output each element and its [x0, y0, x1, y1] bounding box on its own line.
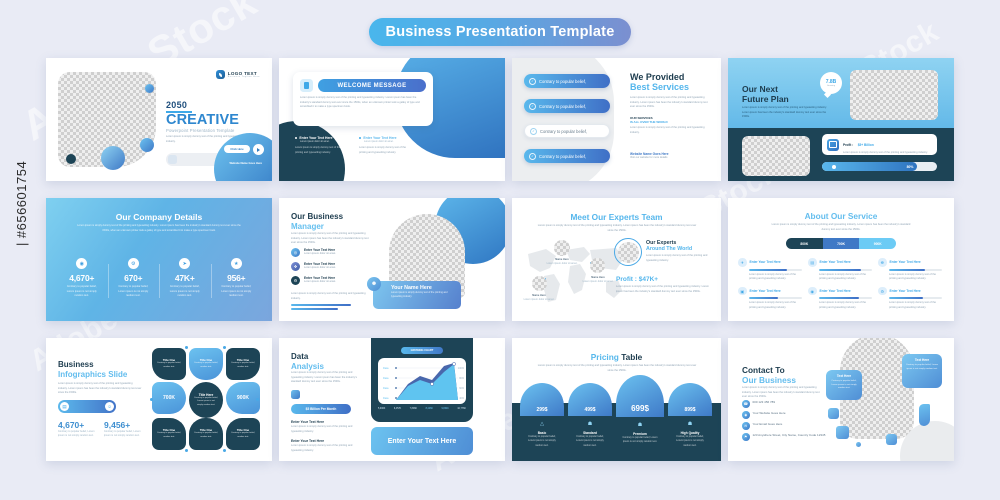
- service-cell[interactable]: ▣Enter Your Text Here Lorem ipsum is sim…: [738, 287, 802, 311]
- decor-square: [291, 390, 300, 399]
- pricing-body: Lorem ipsum is simply dummy text of the …: [536, 364, 698, 373]
- map-caption: Name HereLorem ipsum dolor sit amet.: [544, 258, 580, 267]
- doc-icon: [168, 155, 177, 164]
- item-sub: Lorem ipsum dolor sit amet.: [304, 266, 336, 271]
- map-caption: Name HereLorem ipsum dolor sit amet.: [580, 276, 616, 285]
- contact-text: 123 Anywhere Street, City Name, Country …: [753, 433, 826, 438]
- decor-square: [828, 408, 839, 419]
- data-analysis-body: Lorem ipsum is simply dummy text of the …: [291, 371, 357, 385]
- chart-icon[interactable]: ▤: [60, 402, 69, 411]
- cell-desc: Contrary to popular belief, random text.: [152, 362, 186, 369]
- about-service-heading: About Our Service: [728, 211, 954, 221]
- svg-text:Data: Data: [383, 396, 389, 400]
- progress-knob[interactable]: [832, 165, 836, 169]
- cell-desc: Lorem ipsum is simply dummy text of the …: [889, 273, 942, 282]
- experts-profit-body: Lorem ipsum is simply dummy text of the …: [616, 285, 712, 294]
- segment-3[interactable]: 900K: [859, 238, 896, 249]
- decor-dot: [223, 449, 226, 452]
- cell-title: Enter Your Text Here: [820, 289, 851, 293]
- manager-heading: Our BusinessManager: [291, 212, 343, 231]
- cart-icon: ☗: [586, 420, 594, 428]
- segment-2[interactable]: 700K: [823, 238, 860, 249]
- chart-tag: GROWING CHART: [401, 347, 443, 354]
- list-item[interactable]: ◎ Enter Your Text Here Lorem ipsum dolor…: [291, 248, 373, 257]
- stats-row: ◉ 4,670+ Contrary to popular belief, Lor…: [56, 258, 262, 299]
- future-plan-heading: Our NextFuture Plan: [742, 84, 789, 104]
- contact-card-1[interactable]: Text Here Contrary to popular belief, Lo…: [826, 370, 862, 400]
- welcome-card: WELCOME MESSAGE Lorem ipsum is simply du…: [293, 72, 433, 126]
- bubble-label: Growing: [827, 85, 835, 87]
- services-heading: We ProvidedBest Services: [630, 72, 689, 93]
- number-desc: Contrary to popular belief, Lorem ipsum …: [58, 430, 98, 439]
- column-sub: Lorem ipsum dolor sit amet.: [300, 140, 347, 143]
- area-chart: DataData DataData 100%80% 60%40%: [378, 358, 466, 404]
- services-sub-2: IS ALL OVER THE WORLD: [630, 120, 710, 124]
- service-cell[interactable]: ⚙Enter Your Text Here Lorem ipsum is sim…: [878, 287, 942, 311]
- image-placeholder-2: [742, 136, 810, 176]
- logo: LOGO TEXT Business Tagline Here: [216, 70, 260, 79]
- cell-desc: Lorem ipsum is simply dummy text of the …: [889, 301, 942, 310]
- decor-dot: [185, 346, 188, 349]
- decor-square: [836, 426, 849, 439]
- text-title: Enter Your Text Here: [291, 439, 361, 443]
- slide-services[interactable]: ✓Contrary to popular belief, ✓Contrary t…: [512, 58, 721, 181]
- card-title: Text Here: [906, 358, 938, 362]
- profit-value: $5+ Billion: [858, 143, 874, 147]
- user-icon[interactable]: ☺: [105, 402, 114, 411]
- cover-subtitle: Powerpoint Presentation Template: [166, 128, 235, 133]
- globe-icon: ◉: [76, 258, 87, 269]
- company-details-title: Our Company Details: [46, 212, 272, 222]
- stat-item: ◉ 4,670+ Contrary to popular belief, Lor…: [56, 258, 108, 299]
- progress-fill: 80%: [822, 162, 917, 171]
- document-icon: [300, 79, 313, 92]
- plan-price: 699$: [616, 375, 664, 417]
- plan-desc: Contrary to popular belief, Lorem ipsum …: [616, 436, 664, 445]
- check-icon: ✓: [530, 128, 537, 135]
- manager-list: ◎ Enter Your Text Here Lorem ipsum dolor…: [291, 248, 373, 290]
- cart-icon: ☗: [686, 420, 694, 428]
- center-desc: Contrary to popular belief, Lorem ipsum …: [189, 397, 223, 408]
- profit-label: Profit :: [843, 143, 853, 147]
- stat-item: ➤ 47K+ Contrary to popular belief, Lorem…: [159, 258, 211, 299]
- profit-card: Profit : $5+ Billion Lorem ipsum is simp…: [822, 134, 937, 155]
- contact-list: ☎ 000 123 456 789 ◉ Your Website Goes He…: [742, 400, 828, 444]
- phone-icon: ☎: [742, 400, 750, 408]
- slide-business-manager[interactable]: Our BusinessManager Lorem ipsum is simpl…: [279, 198, 505, 321]
- pricing-plan[interactable]: 899$ ☗ High Quality Contrary to popular …: [668, 383, 712, 461]
- service-pill-1[interactable]: ✓Contrary to popular belief,: [524, 74, 610, 88]
- svg-text:Data: Data: [383, 366, 389, 370]
- x-tick: 5,000K: [378, 408, 385, 410]
- grid-cell[interactable]: 900K: [226, 382, 260, 414]
- data-analysis-cta[interactable]: Enter Your Text Here: [371, 427, 473, 455]
- decor-dot-blue: [145, 84, 154, 93]
- x-tick: 9,864K: [442, 408, 449, 410]
- cell-title: Enter Your Text Here: [820, 260, 851, 264]
- number-item: 9,456+ Contrary to popular belief, Lorem…: [104, 420, 150, 439]
- cover-website: Website Name Goes Here: [229, 162, 262, 165]
- contact-body: Lorem ipsum is simply dummy text of the …: [742, 386, 824, 400]
- services-sub-body: Lorem ipsum is simply dummy text of the …: [630, 126, 710, 135]
- slide-experts-team[interactable]: Meet Our Experts Team Lorem ipsum is sim…: [512, 198, 721, 321]
- data-analysis-heading: DataAnalysis: [291, 352, 324, 371]
- service-cell[interactable]: ☸Enter Your Text Here Lorem ipsum is sim…: [878, 258, 942, 282]
- text-title: Enter Your Text Here: [291, 420, 361, 424]
- slide-company-details[interactable]: Our Company Details Lorem ipsum is simpl…: [46, 198, 272, 321]
- globe-icon: ◉: [742, 411, 750, 419]
- cell-progress: [889, 297, 942, 299]
- stat-value: 4,670+: [56, 273, 108, 283]
- member-photo-placeholder: [590, 258, 605, 273]
- service-pill-2[interactable]: ✓Contrary to popular belief,: [524, 99, 610, 113]
- experts-side-body: Lorem ipsum is simply dummy text of the …: [646, 254, 712, 263]
- target-icon: ◎: [291, 248, 300, 257]
- slide-pricing-table[interactable]: Pricing Table Lorem ipsum is simply dumm…: [512, 338, 721, 461]
- company-details-body: Lorem ipsum is simply dummy text of the …: [76, 224, 242, 234]
- expert-avatar-ring: [614, 238, 642, 266]
- profit-body: Lorem ipsum is simply dummy text of the …: [843, 151, 928, 156]
- rocket-icon: ✈: [738, 258, 747, 267]
- item-sub: Lorem ipsum dolor sit amet.: [304, 280, 336, 285]
- pricing-plan-featured[interactable]: 699$ ☗ Premium Contrary to popular belie…: [616, 375, 664, 461]
- grid-cell[interactable]: Title One Contrary to popular belief, ra…: [189, 348, 223, 380]
- stat-value: 956+: [211, 273, 263, 283]
- contact-text: Your Email Goes Here: [753, 422, 783, 427]
- service-cell[interactable]: ▤Enter Your Text Here Lorem ipsum is sim…: [808, 258, 872, 282]
- future-plan-body: Lorem ipsum is simply dummy text of the …: [742, 106, 832, 120]
- map-caption: Name HereLorem ipsum dolor sit amet.: [521, 294, 557, 303]
- list-item[interactable]: ⚙ Enter Your Text Here Lorem ipsum dolor…: [291, 276, 373, 285]
- plan-desc: Contrary to popular belief, Lorem ipsum …: [520, 435, 564, 448]
- service-pill-4[interactable]: ✓Contrary to popular belief,: [524, 149, 610, 163]
- x-tick: 10,776K: [457, 408, 466, 410]
- growth-bubble: 7.8B Growing: [820, 72, 842, 94]
- grid-cell[interactable]: Title One Contrary to popular belief, ra…: [152, 348, 186, 380]
- list-item[interactable]: ❖ Enter Your Text Here Lorem ipsum dolor…: [291, 262, 373, 271]
- avatar: ☻: [367, 277, 381, 291]
- contact-item[interactable]: ✉ Your Email Goes Here: [742, 422, 828, 430]
- cell-title: Enter Your Text Here: [750, 260, 781, 264]
- cell-desc: Lorem ipsum is simply dummy text of the …: [819, 301, 872, 310]
- chart-icon: ▤: [808, 258, 817, 267]
- contact-item[interactable]: ◉ Your Website Goes Here: [742, 411, 828, 419]
- x-tick: 8,446K: [426, 408, 433, 410]
- infographics-heading: BusinessInfographics Slide: [58, 360, 127, 379]
- service-cell[interactable]: ✈Enter Your Text Here Lorem ipsum is sim…: [738, 258, 802, 282]
- briefcase-icon: [827, 139, 839, 151]
- cell-progress: [819, 297, 872, 299]
- item-sub: Lorem ipsum dolor sit amet.: [304, 252, 336, 257]
- gear-icon: ⚙: [878, 287, 887, 296]
- slide-welcome[interactable]: WELCOME MESSAGE Lorem ipsum is simply du…: [279, 58, 505, 181]
- number-value: 9,456+: [104, 420, 150, 430]
- slide-about-service[interactable]: About Our Service Lorem ipsum is simply …: [728, 198, 954, 321]
- experts-side-title-2: Around The World: [646, 246, 712, 252]
- svg-text:40%: 40%: [459, 397, 465, 400]
- experts-profit: Profit : $47K+: [616, 276, 712, 283]
- user-icon: ★: [231, 258, 242, 269]
- cover-cta-button[interactable]: Click Here: [224, 145, 250, 153]
- text-body: Lorem ipsum is simply dummy text of the …: [291, 444, 361, 453]
- contact-card-2[interactable]: Text Here Contrary to popular belief, Lo…: [902, 354, 942, 388]
- cell-desc: Lorem ipsum is simply dummy text of the …: [749, 273, 802, 282]
- stat-desc: Contrary to popular belief, Lorem ipsum …: [108, 285, 160, 299]
- data-analysis-button[interactable]: $5 Billion Per Month: [291, 404, 351, 414]
- cover-year: 2050: [166, 100, 192, 113]
- stat-value: 47K+: [159, 273, 211, 283]
- slide-future-plan[interactable]: Our NextFuture Plan Lorem ipsum is simpl…: [728, 58, 954, 181]
- contact-text: 000 123 456 789: [753, 400, 776, 405]
- stat-value: 670+: [108, 273, 160, 283]
- plan-price: 899$: [668, 383, 712, 416]
- cell-progress: [889, 269, 942, 271]
- stat-item: ★ 956+ Contrary to popular belief, Lorem…: [211, 258, 263, 299]
- cart-icon: ▣: [738, 287, 747, 296]
- cell-desc: Contrary to popular belief, random text.: [226, 432, 260, 439]
- image-placeholder-1: [850, 70, 938, 120]
- data-analysis-texts: Enter Your Text Here Lorem ipsum is simp…: [291, 420, 361, 453]
- card-desc: Contrary to popular belief, Lorem ipsum …: [906, 364, 938, 371]
- card-title: Text Here: [830, 374, 858, 378]
- member-photo-placeholder: [532, 276, 547, 291]
- logo-tagline: Business Tagline Here: [228, 76, 260, 78]
- segment-1[interactable]: 800K: [786, 238, 823, 249]
- cover-title: CREATIVE: [166, 112, 239, 128]
- manager-footer: Lorem ipsum is simply dummy text of the …: [291, 292, 369, 301]
- welcome-badge: WELCOME MESSAGE: [318, 79, 426, 92]
- contact-heading: Contact ToOur Business: [742, 366, 796, 386]
- logo-mark-icon: [216, 70, 225, 79]
- slide-infographics[interactable]: BusinessInfographics Slide Lorem ipsum i…: [46, 338, 272, 461]
- column-body: Lorem ipsum is simply dummy text of the …: [359, 146, 411, 155]
- cart-icon: ☗: [636, 421, 644, 429]
- column-sub: Lorem ipsum dolor sit amet.: [364, 140, 411, 143]
- decor-blob: [919, 404, 930, 426]
- experts-body: Lorem ipsum is simply dummy text of the …: [536, 224, 698, 233]
- stock-id-label: |#656601754: [14, 161, 29, 250]
- welcome-column-1: Enter Your Text Here Lorem ipsum dolor s…: [295, 136, 347, 155]
- segmented-stat-bar[interactable]: 800K 700K 900K: [786, 238, 896, 249]
- cell-desc: Lorem ipsum is simply dummy text of the …: [819, 273, 872, 282]
- service-pill-3[interactable]: ✓Contrary to popular belief,: [524, 124, 610, 138]
- check-icon: ✓: [529, 153, 536, 160]
- svg-text:60%: 60%: [459, 387, 465, 390]
- stat-desc: Contrary to popular belief, Lorem ipsum …: [211, 285, 263, 299]
- decor-bars: [291, 304, 351, 312]
- decor-dot-blue-2: [140, 138, 154, 152]
- pricing-plan[interactable]: 499$ ☗ Standard Contrary to popular beli…: [568, 383, 612, 461]
- text-body: Lorem ipsum is simply dummy text of the …: [291, 425, 361, 434]
- services-website-sub: Visit our website for more details: [630, 156, 710, 161]
- cell-title: Enter Your Text Here: [890, 289, 921, 293]
- x-tick: 7,896K: [410, 408, 417, 410]
- grid-cell[interactable]: Title One Contrary to popular belief, ra…: [226, 418, 260, 450]
- check-icon: ✓: [529, 103, 536, 110]
- plan-desc: Contrary to popular belief, Lorem ipsum …: [568, 435, 612, 448]
- pin-icon: ⚑: [742, 433, 750, 441]
- globe-icon: ◉: [808, 287, 817, 296]
- cell-title: 900K: [237, 395, 249, 401]
- svg-text:Data: Data: [383, 376, 389, 380]
- pricing-plan[interactable]: 299$ △ Basic Contrary to popular belief,…: [520, 383, 564, 461]
- decor-square: [886, 434, 897, 445]
- svg-text:100%: 100%: [458, 367, 465, 370]
- infographics-body: Lorem ipsum is simply dummy text of the …: [58, 382, 142, 396]
- cell-desc: Lorem ipsum is simply dummy text of the …: [749, 301, 802, 310]
- slide-cover[interactable]: LOGO TEXT Business Tagline Here 2050 CRE…: [46, 58, 272, 181]
- manager-body: Lorem ipsum is simply dummy text of the …: [291, 232, 373, 246]
- contact-item[interactable]: ⚑ 123 Anywhere Street, City Name, Countr…: [742, 433, 828, 441]
- plan-desc: Contrary to popular belief, Lorem ipsum …: [668, 435, 712, 448]
- stat-desc: Contrary to popular belief, Lorem ipsum …: [56, 285, 108, 299]
- infographics-numbers: 4,670+ Contrary to popular belief, Lorem…: [58, 420, 150, 439]
- cell-desc: Contrary to popular belief, random text.: [189, 362, 223, 369]
- cell-progress: [819, 269, 872, 271]
- share-icon: ☸: [878, 258, 887, 267]
- rocket-icon: ➤: [179, 258, 190, 269]
- number-desc: Contrary to popular belief, Lorem ipsum …: [104, 430, 144, 439]
- service-cell[interactable]: ◉Enter Your Text Here Lorem ipsum is sim…: [808, 287, 872, 311]
- grid-center-cell[interactable]: Title Here Contrary to popular belief, L…: [189, 382, 223, 418]
- plan-price: 299$: [520, 383, 564, 416]
- cell-desc: Contrary to popular belief, random text.: [152, 432, 186, 439]
- grid-cell[interactable]: Title One Contrary to popular belief, ra…: [152, 418, 186, 450]
- service-grid: ✈Enter Your Text Here Lorem ipsum is sim…: [738, 258, 944, 311]
- contact-item[interactable]: ☎ 000 123 456 789: [742, 400, 828, 408]
- grid-cell[interactable]: Title One Contrary to popular belief, ra…: [189, 418, 223, 450]
- page-title-text: Business Presentation Template: [386, 24, 615, 40]
- progress-bar[interactable]: 80%: [822, 162, 937, 171]
- member-photo-placeholder: [554, 240, 570, 256]
- name-card: Your Name Here Lorem ipsum is simply dum…: [373, 281, 461, 309]
- cell-progress: [749, 297, 802, 299]
- decor-square: [856, 442, 861, 447]
- grid-cell[interactable]: Title One Contrary to popular belief, ra…: [226, 348, 260, 380]
- decor-dot: [185, 449, 188, 452]
- progress-value: 80%: [907, 165, 914, 169]
- expert-photo-placeholder: [618, 242, 639, 263]
- decor-dot-large: [101, 146, 125, 170]
- about-service-body: Lorem ipsum is simply dummy text of the …: [768, 223, 914, 232]
- bag-icon: △: [538, 420, 546, 428]
- gear-icon: ⚙: [291, 276, 300, 285]
- play-button[interactable]: [253, 144, 264, 155]
- card-desc: Contrary to popular belief, Lorem ipsum …: [830, 380, 858, 391]
- services-body: Lorem ipsum is simply dummy text of the …: [630, 96, 710, 110]
- slide-data-analysis[interactable]: DataAnalysis Lorem ipsum is simply dummy…: [279, 338, 505, 461]
- stat-desc: Contrary to popular belief, Lorem ipsum …: [159, 285, 211, 299]
- number-value: 4,670+: [58, 420, 104, 430]
- infographics-toggle[interactable]: ▤ ☺: [58, 400, 116, 413]
- cell-title: Enter Your Text Here: [750, 289, 781, 293]
- stat-item: ⚙ 670+ Contrary to popular belief, Lorem…: [108, 258, 160, 299]
- column-body: Lorem ipsum is simply dummy text of the …: [295, 146, 347, 155]
- decor-dot-dark: [66, 154, 76, 164]
- cell-title: Enter Your Text Here: [890, 260, 921, 264]
- slide-contact[interactable]: Contact ToOur Business Lorem ipsum is si…: [728, 338, 954, 461]
- shield-icon: ❖: [291, 262, 300, 271]
- bulb-icon: ⚙: [128, 258, 139, 269]
- check-icon: ✓: [529, 78, 536, 85]
- contact-text: Your Website Goes Here: [753, 411, 786, 416]
- page-title: Business Presentation Template: [369, 18, 631, 46]
- pricing-heading: Pricing Table: [512, 352, 721, 362]
- cell-title: 700K: [163, 395, 175, 401]
- svg-text:80%: 80%: [459, 377, 465, 380]
- cell-progress: [749, 269, 802, 271]
- chart-panel: GROWING CHART DataData: [371, 338, 473, 422]
- chart-x-axis: 5,000K 6,457K 7,896K 8,446K 9,864K 10,77…: [378, 408, 466, 410]
- mail-icon: ✉: [742, 422, 750, 430]
- svg-text:Data: Data: [383, 386, 389, 390]
- plan-price: 499$: [568, 383, 612, 416]
- x-tick: 6,457K: [394, 408, 401, 410]
- name-card-body: Lorem ipsum is simply dummy text of the …: [391, 291, 455, 300]
- welcome-column-2: Enter Your Text Here Lorem ipsum dolor s…: [359, 136, 411, 155]
- infographics-grid: Title One Contrary to popular belief, ra…: [152, 348, 260, 452]
- welcome-body: Lorem ipsum is simply dummy text of the …: [300, 96, 426, 110]
- cell-desc: Contrary to popular belief, random text.: [226, 362, 260, 369]
- cell-desc: Contrary to popular belief, random text.: [189, 432, 223, 439]
- grid-cell[interactable]: 700K: [152, 382, 186, 414]
- number-item: 4,670+ Contrary to popular belief, Lorem…: [58, 420, 104, 439]
- experts-heading: Meet Our Experts Team: [512, 212, 721, 222]
